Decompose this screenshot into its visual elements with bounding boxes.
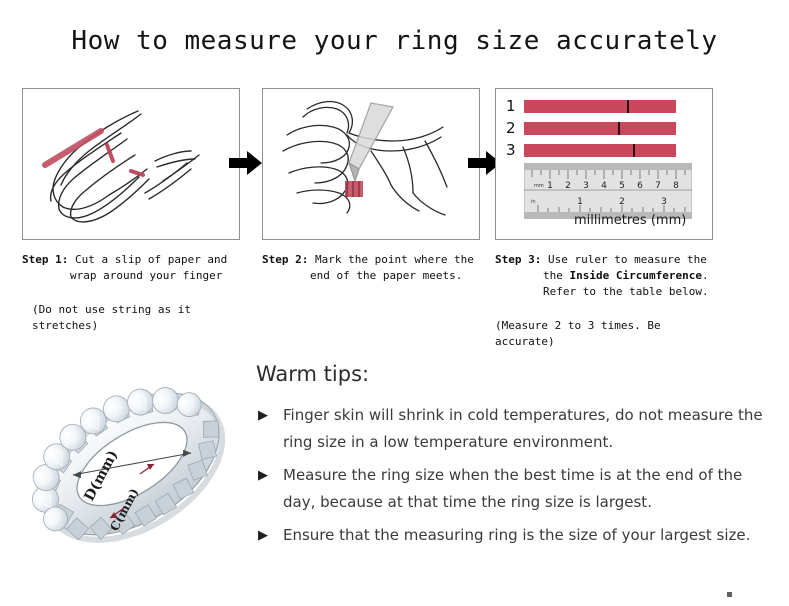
step-2-line-1: Mark the point where the [315, 253, 474, 266]
tip-item: ▶ Finger skin will shrink in cold temper… [256, 402, 768, 456]
step-1-caption: Step 1: Cut a slip of paper and wrap aro… [22, 252, 240, 284]
right-arrow-icon-1 [229, 150, 263, 176]
page-title: How to measure your ring size accurately [0, 26, 789, 56]
step-3-label: Step 3: [495, 253, 541, 266]
step-3-line-3: Refer to the table below. [495, 284, 713, 300]
triangle-bullet-icon: ▶ [258, 462, 268, 489]
hand-marking-paper-icon [263, 89, 479, 239]
svg-text:1: 1 [577, 197, 583, 207]
tip-text: Ensure that the measuring ring is the si… [283, 526, 750, 544]
ring-diagram-icon: D(mm) C(mm) [22, 352, 250, 577]
corner-artifact [727, 592, 732, 597]
step-2-label: Step 2: [262, 253, 308, 266]
ruler-unit-label: millimetres (mm) [574, 213, 686, 228]
warm-tips-section: Warm tips: ▶ Finger skin will shrink in … [256, 362, 768, 555]
step-1-label: Step 1: [22, 253, 68, 266]
hand-with-paper-strip-icon [23, 89, 239, 239]
step-3-line-2-tail: . [702, 269, 709, 282]
svg-text:6: 6 [637, 181, 643, 191]
svg-text:mm: mm [534, 183, 544, 189]
tip-text: Finger skin will shrink in cold temperat… [283, 406, 763, 451]
tip-item: ▶ Measure the ring size when the best ti… [256, 462, 768, 516]
svg-text:1: 1 [547, 181, 553, 191]
ruler-graphic: 123 456 78 123 mm in [524, 163, 692, 219]
warm-tips-heading: Warm tips: [256, 362, 768, 386]
strip-mark [618, 122, 620, 135]
ring-figure: D(mm) C(mm) [22, 352, 250, 577]
strip-mark [633, 144, 635, 157]
strip-number: 2 [506, 119, 524, 137]
svg-text:7: 7 [655, 181, 661, 191]
tip-text: Measure the ring size when the best time… [283, 466, 742, 511]
step-3-illustration-panel: 1 2 3 [495, 88, 713, 240]
strip-row: 2 [506, 119, 706, 137]
strip-row: 1 [506, 97, 706, 115]
tip-item: ▶ Ensure that the measuring ring is the … [256, 522, 768, 549]
step-3-line-2-prefix: the [543, 269, 570, 282]
step-2-illustration-panel [262, 88, 480, 240]
strip-bar [524, 100, 676, 113]
steps-row: Step 1: Cut a slip of paper and wrap aro… [0, 88, 789, 338]
svg-text:5: 5 [619, 181, 625, 191]
ruler-icon: 123 456 78 123 mm in [524, 163, 692, 219]
strip-row: 3 [506, 141, 706, 159]
measured-strips-group: 1 2 3 [506, 97, 706, 163]
svg-text:3: 3 [661, 197, 667, 207]
strip-bar [524, 122, 676, 135]
step-3-line-1: Use ruler to measure the [548, 253, 707, 266]
strip-bar [524, 144, 676, 157]
step-3-caption: Step 3: Use ruler to measure the the Ins… [495, 252, 713, 300]
strip-mark [627, 100, 629, 113]
step-2-line-2: end of the paper meets. [262, 268, 480, 284]
triangle-bullet-icon: ▶ [258, 522, 268, 549]
step-2-caption: Step 2: Mark the point where the end of … [262, 252, 480, 284]
step-1-line-2: wrap around your finger [22, 268, 240, 284]
step-3-bold-phrase: Inside Circumference [570, 269, 702, 282]
triangle-bullet-icon: ▶ [258, 402, 268, 429]
step-3-note: (Measure 2 to 3 times. Be accurate) [495, 318, 713, 350]
strip-number: 3 [506, 141, 524, 159]
step-1-column: Step 1: Cut a slip of paper and wrap aro… [22, 88, 240, 334]
svg-text:8: 8 [673, 181, 679, 191]
svg-text:3: 3 [583, 181, 589, 191]
step-1-illustration-panel [22, 88, 240, 240]
svg-text:2: 2 [619, 197, 625, 207]
step-2-column: Step 2: Mark the point where the end of … [262, 88, 480, 284]
step-1-note: (Do not use string as it stretches) [22, 302, 240, 334]
svg-text:in: in [531, 199, 536, 205]
strip-number: 1 [506, 97, 524, 115]
svg-text:2: 2 [565, 181, 571, 191]
step-1-line-1: Cut a slip of paper and [75, 253, 227, 266]
svg-text:4: 4 [601, 181, 607, 191]
step-3-column: 1 2 3 [495, 88, 713, 350]
